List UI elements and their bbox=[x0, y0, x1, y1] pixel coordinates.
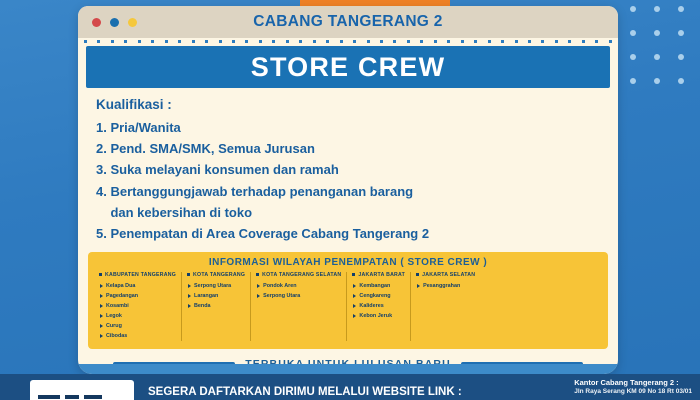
cta-text: SEGERA DAFTARKAN DIRIMU MELALUI WEBSITE … bbox=[148, 386, 462, 398]
dash bbox=[461, 40, 464, 43]
column-header: JAKARTA SELATAN bbox=[416, 272, 475, 278]
office-address: Jln Raya Serang KM 09 No 18 Rt 03/01 bbox=[574, 388, 692, 397]
dot bbox=[678, 6, 684, 12]
column-header: JAKARTA BARAT bbox=[352, 272, 405, 278]
column-header: KABUPATEN TANGERANG bbox=[99, 272, 176, 278]
dash bbox=[124, 40, 127, 43]
dot bbox=[630, 6, 636, 12]
placement-info-panel: INFORMASI WILAYAH PENEMPATAN ( STORE CRE… bbox=[88, 252, 608, 349]
list-item: Cengkareng bbox=[352, 291, 405, 301]
dash bbox=[393, 40, 396, 43]
list-item: 1. Pria/Wanita bbox=[96, 117, 618, 138]
dot bbox=[678, 30, 684, 36]
dash bbox=[367, 40, 370, 43]
list-item: Serpong Utara bbox=[187, 281, 245, 291]
decorative-dot-grid bbox=[630, 6, 688, 88]
placement-column-kabupaten-tangerang: KABUPATEN TANGERANG Kelapa Dua Pagedanga… bbox=[94, 272, 182, 341]
dot bbox=[654, 6, 660, 12]
company-logo bbox=[30, 380, 134, 400]
job-title-banner: STORE CREW bbox=[86, 46, 610, 88]
column-header: KOTA TANGERANG bbox=[187, 272, 245, 278]
dashed-divider-top bbox=[78, 38, 618, 45]
dot bbox=[678, 54, 684, 60]
placement-columns: KABUPATEN TANGERANG Kelapa Dua Pagedanga… bbox=[94, 272, 602, 341]
dash bbox=[474, 40, 477, 43]
list-item: Cibodas bbox=[99, 331, 176, 341]
bullet-square-icon bbox=[256, 273, 259, 276]
dash bbox=[232, 40, 235, 43]
dash bbox=[420, 40, 423, 43]
window-titlebar: CABANG TANGERANG 2 bbox=[78, 6, 618, 38]
dash bbox=[340, 40, 343, 43]
list-item: Benda bbox=[187, 301, 245, 311]
list-item: Kalideres bbox=[352, 301, 405, 311]
list-item: Larangan bbox=[187, 291, 245, 301]
bullet-square-icon bbox=[352, 273, 355, 276]
dash bbox=[97, 40, 100, 43]
logo-bar bbox=[84, 395, 102, 399]
dash bbox=[84, 40, 87, 43]
column-header-label: KABUPATEN TANGERANG bbox=[105, 272, 176, 278]
list-item: 4. Bertanggungjawab terhadap penanganan … bbox=[96, 181, 618, 202]
column-header-label: JAKARTA BARAT bbox=[358, 272, 405, 278]
list-item: Pesanggrahan bbox=[416, 281, 475, 291]
dot bbox=[654, 30, 660, 36]
list-item: Kelapa Dua bbox=[99, 281, 176, 291]
dash bbox=[272, 40, 275, 43]
list-item: Curug bbox=[99, 321, 176, 331]
dash bbox=[501, 40, 504, 43]
dash bbox=[609, 40, 612, 43]
logo-bar bbox=[38, 395, 60, 399]
dot bbox=[654, 78, 660, 84]
column-header-label: JAKARTA SELATAN bbox=[422, 272, 475, 278]
dash bbox=[286, 40, 289, 43]
column-header-label: KOTA TANGERANG SELATAN bbox=[262, 272, 341, 278]
poster-card: CABANG TANGERANG 2 STORE CREW Kualifikas… bbox=[78, 6, 618, 374]
dash bbox=[219, 40, 222, 43]
qualifications-heading: Kualifikasi : bbox=[96, 97, 618, 112]
column-header: KOTA TANGERANG SELATAN bbox=[256, 272, 341, 278]
placement-column-kota-tangerang-selatan: KOTA TANGERANG SELATAN Pondok Aren Serpo… bbox=[251, 272, 347, 341]
list-item: Kebon Jeruk bbox=[352, 311, 405, 321]
dot bbox=[630, 78, 636, 84]
bottom-bar: SEGERA DAFTARKAN DIRIMU MELALUI WEBSITE … bbox=[0, 374, 700, 400]
dash bbox=[528, 40, 531, 43]
column-header-label: KOTA TANGERANG bbox=[193, 272, 245, 278]
branch-title: CABANG TANGERANG 2 bbox=[78, 13, 618, 31]
dash bbox=[151, 40, 154, 43]
qualifications-section: Kualifikasi : 1. Pria/Wanita 2. Pend. SM… bbox=[78, 88, 618, 244]
qualifications-list: 1. Pria/Wanita 2. Pend. SMA/SMK, Semua J… bbox=[96, 117, 618, 244]
list-item: 3. Suka melayani konsumen dan ramah bbox=[96, 159, 618, 180]
dash bbox=[595, 40, 598, 43]
dash bbox=[568, 40, 571, 43]
bullet-square-icon bbox=[99, 273, 102, 276]
dot bbox=[630, 54, 636, 60]
dash bbox=[541, 40, 544, 43]
list-item: Pondok Aren bbox=[256, 281, 341, 291]
dash bbox=[582, 40, 585, 43]
list-item: Kosambi bbox=[99, 301, 176, 311]
job-vacancy-poster: CABANG TANGERANG 2 STORE CREW Kualifikas… bbox=[0, 0, 700, 400]
office-address-block: Kantor Cabang Tangerang 2 : Jln Raya Ser… bbox=[574, 378, 692, 397]
dash bbox=[313, 40, 316, 43]
bullet-square-icon bbox=[187, 273, 190, 276]
list-item: 5. Penempatan di Area Coverage Cabang Ta… bbox=[96, 223, 618, 244]
list-item: Kembangan bbox=[352, 281, 405, 291]
job-title: STORE CREW bbox=[251, 52, 446, 83]
placement-column-jakarta-selatan: JAKARTA SELATAN Pesanggrahan bbox=[411, 272, 480, 341]
placement-column-jakarta-barat: JAKARTA BARAT Kembangan Cengkareng Kalid… bbox=[347, 272, 411, 341]
dash bbox=[138, 40, 141, 43]
list-item: Pagedangan bbox=[99, 291, 176, 301]
bullet-square-icon bbox=[416, 273, 419, 276]
dot bbox=[654, 54, 660, 60]
dash bbox=[434, 40, 437, 43]
list-item: 2. Pend. SMA/SMK, Semua Jurusan bbox=[96, 138, 618, 159]
dash bbox=[380, 40, 383, 43]
dash bbox=[165, 40, 168, 43]
dot bbox=[630, 30, 636, 36]
logo-mark-icon bbox=[38, 395, 102, 399]
list-item: Legok bbox=[99, 311, 176, 321]
placement-column-kota-tangerang: KOTA TANGERANG Serpong Utara Larangan Be… bbox=[182, 272, 251, 341]
dash bbox=[447, 40, 450, 43]
dash bbox=[515, 40, 518, 43]
logo-bar bbox=[65, 395, 79, 399]
dash bbox=[299, 40, 302, 43]
dot bbox=[678, 78, 684, 84]
list-item: dan kebersihan di toko bbox=[96, 202, 618, 223]
dash bbox=[407, 40, 410, 43]
office-label: Kantor Cabang Tangerang 2 : bbox=[574, 378, 692, 388]
dash bbox=[192, 40, 195, 43]
list-item: Serpong Utara bbox=[256, 291, 341, 301]
dash bbox=[353, 40, 356, 43]
dash bbox=[178, 40, 181, 43]
dash bbox=[259, 40, 262, 43]
dash bbox=[205, 40, 208, 43]
placement-info-heading: INFORMASI WILAYAH PENEMPATAN ( STORE CRE… bbox=[94, 257, 602, 268]
dash bbox=[326, 40, 329, 43]
dash bbox=[111, 40, 114, 43]
dash bbox=[245, 40, 248, 43]
card-footer-bar bbox=[78, 364, 618, 374]
dash bbox=[555, 40, 558, 43]
dash bbox=[488, 40, 491, 43]
